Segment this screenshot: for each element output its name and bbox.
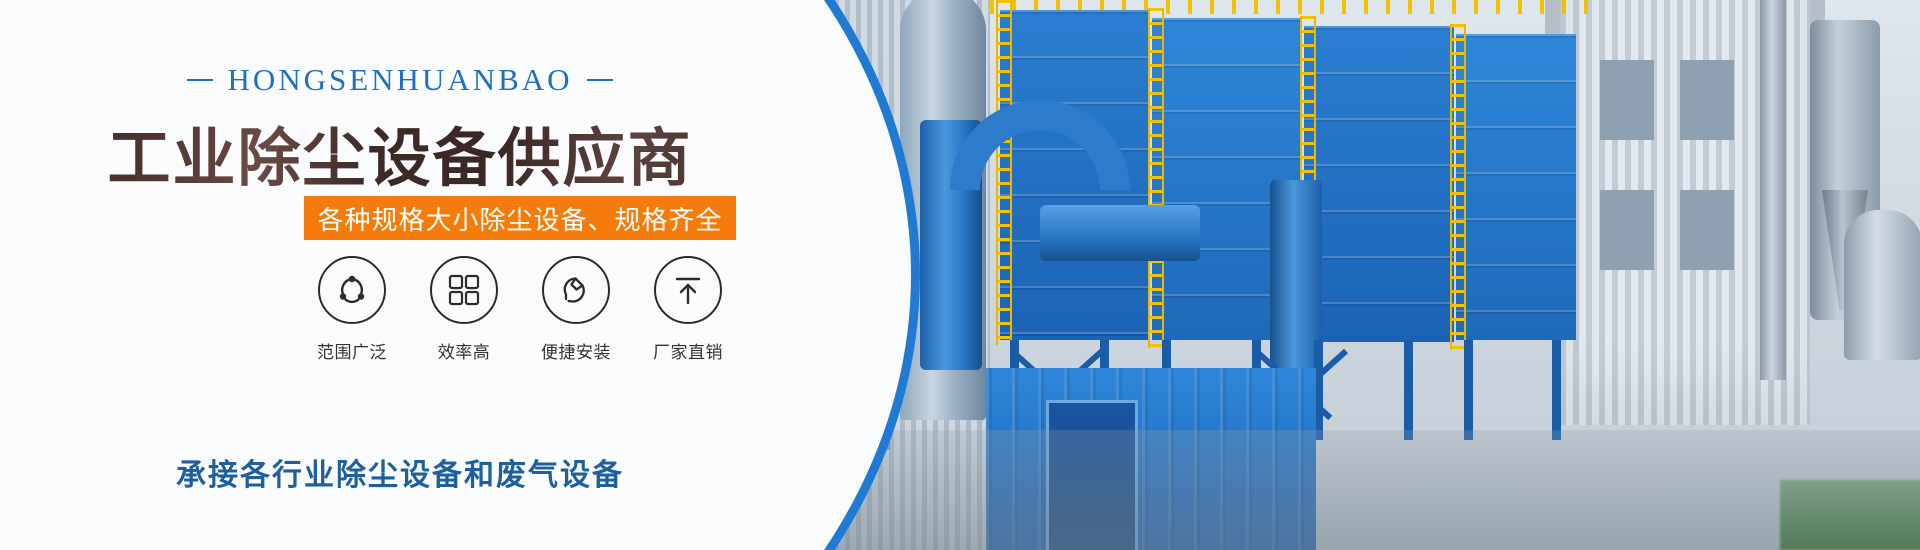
building-window — [1680, 60, 1734, 140]
eyebrow-label: HONGSENHUANBAO — [227, 62, 572, 97]
footer-tagline: 承接各行业除尘设备和废气设备 — [0, 450, 800, 494]
building-window — [1600, 190, 1654, 270]
support-leg — [1464, 340, 1473, 440]
silver-tank — [1844, 210, 1920, 360]
feature-item-installation[interactable]: 便捷安装 — [528, 256, 624, 363]
vegetation — [1780, 480, 1920, 550]
tagline-label: 各种规格大小除尘设备、规格齐全 — [317, 200, 722, 237]
feature-label: 厂家直销 — [653, 338, 723, 363]
dash-left-icon — [187, 79, 213, 81]
feature-item-efficiency[interactable]: 效率高 — [416, 256, 512, 363]
feature-list: 范围广泛 效率高 — [304, 256, 736, 363]
horizontal-duct-pipe — [1040, 205, 1200, 261]
silo-secondary — [830, 110, 890, 450]
building-window — [1680, 190, 1734, 270]
baghouse-module — [1456, 34, 1576, 340]
eyebrow-text: HONGSENHUANBAO — [0, 62, 800, 98]
dash-right-icon — [587, 79, 613, 81]
building-window — [1600, 60, 1654, 140]
dust-collector-photo — [800, 0, 1920, 550]
tagline-bar: 各种规格大小除尘设备、规格齐全 — [304, 196, 736, 240]
hero-banner: HONGSENHUANBAO 工业除尘设备供应商 各种规格大小除尘设备、规格齐全 — [0, 0, 1920, 550]
grid-four-squares-icon — [430, 256, 498, 324]
feature-label: 范围广泛 — [317, 338, 387, 363]
baghouse-module — [1304, 26, 1454, 342]
yellow-ladder — [1450, 24, 1466, 350]
wrench-icon — [542, 256, 610, 324]
support-leg — [1404, 340, 1413, 440]
page-title: 工业除尘设备供应商 — [0, 108, 800, 199]
feature-item-coverage[interactable]: 范围广泛 — [304, 256, 400, 363]
feature-label: 效率高 — [438, 338, 491, 363]
yellow-ladder — [1148, 8, 1164, 348]
share-network-icon — [318, 256, 386, 324]
arrow-up-to-line-icon — [654, 256, 722, 324]
feature-item-factory-direct[interactable]: 厂家直销 — [640, 256, 736, 363]
photo-ground — [800, 430, 1920, 550]
exhaust-stack — [1760, 0, 1786, 380]
support-leg — [1552, 340, 1561, 440]
banner-content: HONGSENHUANBAO 工业除尘设备供应商 各种规格大小除尘设备、规格齐全 — [0, 0, 800, 550]
feature-label: 便捷安装 — [541, 338, 611, 363]
